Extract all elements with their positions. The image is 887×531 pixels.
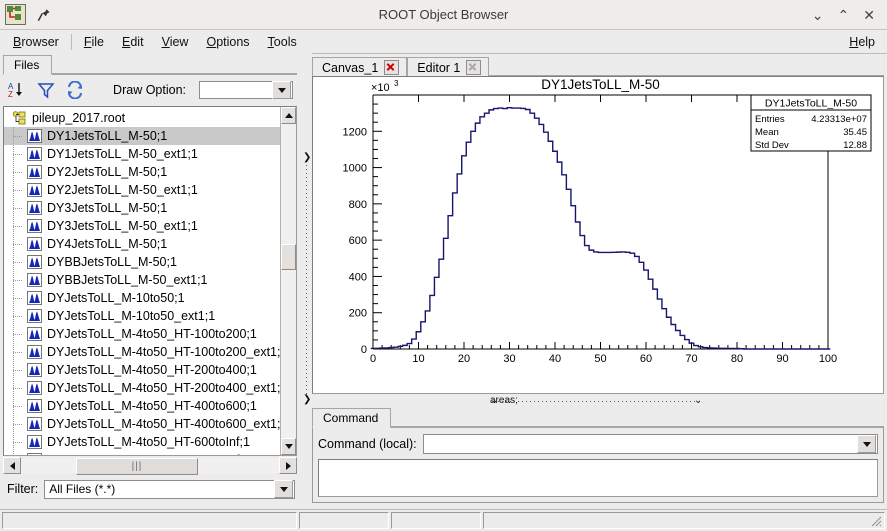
histogram-icon — [27, 345, 42, 359]
tree-connector — [10, 361, 27, 379]
tree-item[interactable]: DYJetsToLL_M-4to50_HT-600toInf;1 — [4, 433, 280, 451]
stats-row-value: 12.88 — [843, 140, 867, 151]
tree-connector — [10, 397, 27, 415]
canvas-pane: Canvas_1 Editor 1 DY1JetsToLL_M-50×10301… — [312, 53, 887, 505]
tree-item-label: DYJetsToLL_M-4to50_HT-400to600;1 — [47, 399, 257, 413]
tree-item-label: DYBBJetsToLL_M-50_ext1;1 — [47, 273, 208, 287]
draw-option-label: Draw Option: — [113, 83, 190, 97]
histogram-icon — [27, 453, 42, 455]
svg-text:Z: Z — [8, 90, 13, 99]
scroll-right-button[interactable] — [279, 457, 297, 474]
menu-divider — [71, 34, 72, 50]
x-tick-label: 0 — [370, 353, 376, 365]
tree-connector — [10, 307, 27, 325]
title-bar: ROOT Object Browser ⌄ ⌃ ✕ — [0, 0, 887, 30]
tree-item-label: DYJetsToLL_M-4to50_HT-200to400_ext1;1 — [47, 381, 280, 395]
x-tick-label: 20 — [458, 353, 470, 365]
tree-connector — [10, 325, 27, 343]
tree-item-label: DY1JetsToLL_M-50;1 — [47, 129, 167, 143]
status-cell-3 — [391, 512, 481, 529]
menu-view[interactable]: View — [153, 33, 198, 51]
hsplitter-arrow-left2[interactable]: ⌄ — [490, 396, 498, 406]
chevron-down-icon[interactable] — [272, 81, 291, 99]
vertical-splitter[interactable]: ❯ ❯ — [300, 53, 312, 505]
main-area: Files A Z — [0, 53, 887, 505]
histogram-icon — [27, 417, 42, 431]
filter-row: Filter: All Files (*.*) — [3, 474, 297, 503]
scroll-up-button[interactable] — [281, 107, 296, 124]
y-tick-label: 400 — [349, 271, 367, 283]
tree-connector — [10, 235, 27, 253]
tree-item-label: DYJetsToLL_M-4to50_HT-100to200_ext1;1 — [47, 345, 280, 359]
histogram-canvas[interactable]: DY1JetsToLL_M-50×10301020304050607080901… — [312, 76, 884, 394]
y-tick-label: 0 — [361, 344, 367, 356]
tree-item-label: DYJetsToLL_M-10to50_ext1;1 — [47, 309, 215, 323]
y-axis-exponent: ×10 — [371, 82, 390, 94]
menu-options-label: ptions — [216, 35, 249, 49]
tree-item-label: DY1JetsToLL_M-50_ext1;1 — [47, 147, 198, 161]
menu-browser-label: rowser — [21, 35, 59, 49]
tabstrip-filler — [52, 73, 297, 74]
draw-option-combo[interactable] — [199, 81, 293, 99]
stats-row-value: 4.23313e+07 — [811, 114, 867, 125]
canvas-tabstrip: Canvas_1 Editor 1 — [312, 55, 884, 76]
x-tick-label: 60 — [640, 353, 652, 365]
tab-editor-1[interactable]: Editor 1 — [407, 57, 489, 77]
menu-tools[interactable]: Tools — [259, 33, 306, 51]
root-browser-icon — [6, 5, 23, 22]
browser-toolbar: A Z — [3, 75, 297, 105]
command-tabstrip-filler — [391, 426, 884, 427]
browser-pane: Files A Z — [0, 53, 300, 505]
splitter-arrow-bottom[interactable]: ❯ — [303, 395, 311, 405]
stats-row-name: Std Dev — [755, 140, 789, 151]
filter-label: Filter: — [7, 482, 38, 496]
y-tick-label: 800 — [349, 199, 367, 211]
resize-grip-icon[interactable] — [870, 515, 882, 527]
tree-connector — [10, 379, 27, 397]
tree-item-label: DYJetsToLL_M-4to50_HT-600toInf_ext1;1 — [47, 453, 280, 455]
x-tick-label: 30 — [503, 353, 515, 365]
tree-item-label: DY2JetsToLL_M-50_ext1;1 — [47, 183, 198, 197]
scroll-left-button[interactable] — [3, 457, 21, 474]
close-icon[interactable]: ✕ — [863, 8, 875, 22]
histogram-icon — [27, 147, 42, 161]
tree-connector — [10, 271, 27, 289]
x-tick-label: 100 — [819, 353, 837, 365]
command-label: Command (local): — [318, 437, 417, 451]
menu-tools-label: ools — [274, 35, 297, 49]
tree-item[interactable]: DY2JetsToLL_M-50;1 — [4, 163, 280, 181]
tree-item[interactable]: DY1JetsToLL_M-50;1 — [4, 127, 280, 145]
chart-title: DY1JetsToLL_M-50 — [541, 77, 660, 92]
tree-item[interactable]: DYJetsToLL_M-4to50_HT-100to200;1 — [4, 325, 280, 343]
tree-item-label: DY2JetsToLL_M-50;1 — [47, 165, 167, 179]
tree-horizontal-scrollbar[interactable]: ||| — [3, 457, 297, 474]
tree-vertical-scrollbar[interactable] — [280, 107, 296, 455]
menu-file[interactable]: File — [75, 33, 113, 51]
splitter-arrow-top[interactable]: ❯ — [303, 153, 311, 163]
y-tick-label: 1200 — [343, 126, 367, 138]
file-tree-container: pileup_2017.root DY1JetsToLL_M-50;1DY1Je… — [3, 106, 297, 456]
window-title: ROOT Object Browser — [0, 7, 887, 22]
tree-connector — [10, 433, 27, 451]
horizontal-splitter[interactable]: areas; ⌄ ⌄ — [312, 394, 884, 408]
tree-connector — [10, 253, 27, 271]
tree-item[interactable]: DY3JetsToLL_M-50;1 — [4, 199, 280, 217]
files-tabstrip: Files — [3, 55, 297, 75]
tree-item[interactable]: DYJetsToLL_M-10to50_ext1;1 — [4, 307, 280, 325]
app-icon — [5, 4, 26, 25]
command-body: Command (local): — [312, 428, 884, 503]
hscroll-thumb[interactable]: ||| — [76, 458, 198, 475]
tree-item-label: DYJetsToLL_M-4to50_HT-400to600_ext1;1 — [47, 417, 280, 431]
histogram-icon — [27, 435, 42, 449]
x-tick-label: 90 — [776, 353, 788, 365]
y-tick-label: 200 — [349, 308, 367, 320]
funnel-icon[interactable] — [36, 81, 56, 99]
filter-combo[interactable]: All Files (*.*) — [44, 480, 295, 499]
close-icon[interactable] — [466, 60, 481, 75]
command-input-combo[interactable] — [423, 434, 878, 454]
sort-az-icon[interactable]: A Z — [7, 81, 27, 99]
histogram-icon — [27, 291, 42, 305]
tree-item[interactable]: DY2JetsToLL_M-50_ext1;1 — [4, 181, 280, 199]
histogram-icon — [27, 237, 42, 251]
x-tick-label: 70 — [685, 353, 697, 365]
menu-edit-label: dit — [130, 35, 143, 49]
histogram-icon — [27, 165, 42, 179]
tree-item-label: DYJetsToLL_M-4to50_HT-600toInf;1 — [47, 435, 250, 449]
hsplitter-dots — [498, 401, 698, 402]
histogram-icon — [27, 309, 42, 323]
tree-connector — [10, 163, 27, 181]
tree-connector — [10, 343, 27, 361]
window-controls: ⌄ ⌃ ✕ — [812, 8, 887, 22]
tree-item[interactable]: DY4JetsToLL_M-50;1 — [4, 235, 280, 253]
tree-item[interactable]: DYJetsToLL_M-4to50_HT-400to600_ext1;1 — [4, 415, 280, 433]
tree-connector — [10, 451, 27, 455]
menu-options[interactable]: Options — [197, 33, 258, 51]
minimize-icon[interactable]: ⌄ — [812, 8, 824, 22]
tree-item[interactable]: DYJetsToLL_M-4to50_HT-200to400_ext1;1 — [4, 379, 280, 397]
tab-files[interactable]: Files — [3, 55, 52, 75]
histogram-icon — [27, 399, 42, 413]
tree-item[interactable]: DY3JetsToLL_M-50_ext1;1 — [4, 217, 280, 235]
splitter-dots — [306, 161, 307, 397]
histogram-icon — [27, 183, 42, 197]
chevron-down-icon[interactable] — [857, 435, 876, 453]
histogram-icon — [27, 327, 42, 341]
root-file-icon — [12, 111, 29, 126]
x-tick-label: 10 — [412, 353, 424, 365]
histogram-icon — [27, 381, 42, 395]
tab-command[interactable]: Command — [312, 408, 391, 428]
maximize-icon[interactable]: ⌃ — [838, 8, 850, 22]
tab-canvas-1-label: Canvas_1 — [322, 61, 378, 75]
histogram-icon — [27, 219, 42, 233]
scroll-down-button[interactable] — [281, 438, 296, 455]
stats-row-name: Entries — [755, 114, 785, 125]
tab-editor-1-label: Editor 1 — [417, 61, 460, 75]
tree-item[interactable]: DYBBJetsToLL_M-50_ext1;1 — [4, 271, 280, 289]
tab-canvas-1[interactable]: Canvas_1 — [312, 57, 407, 77]
x-tick-label: 40 — [549, 353, 561, 365]
file-tree[interactable]: pileup_2017.root DY1JetsToLL_M-50;1DY1Je… — [4, 107, 280, 455]
stats-row-value: 35.45 — [843, 127, 867, 138]
x-tick-label: 50 — [594, 353, 606, 365]
scroll-thumb[interactable] — [281, 244, 296, 270]
command-tabstrip: Command — [312, 408, 884, 428]
tree-connector — [10, 199, 27, 217]
refresh-icon[interactable] — [65, 81, 85, 99]
y-tick-label: 1000 — [343, 163, 367, 175]
tree-item[interactable]: DYJetsToLL_M-4to50_HT-100to200_ext1;1 — [4, 343, 280, 361]
tree-item-label: DY3JetsToLL_M-50_ext1;1 — [47, 219, 198, 233]
tree-connector — [10, 181, 27, 199]
chevron-down-icon[interactable] — [274, 480, 293, 498]
y-axis-exponent-power: 3 — [394, 79, 399, 88]
menu-help[interactable]: Help — [840, 33, 887, 51]
command-row: Command (local): — [318, 434, 878, 454]
tree-item-label: DYBBJetsToLL_M-50;1 — [47, 255, 177, 269]
tree-item[interactable]: DYJetsToLL_M-4to50_HT-400to600;1 — [4, 397, 280, 415]
filter-value[interactable]: All Files (*.*) — [45, 482, 274, 496]
tree-item[interactable]: DYJetsToLL_M-4to50_HT-600toInf_ext1;1 — [4, 451, 280, 455]
histogram-icon — [27, 255, 42, 269]
tree-item-label: DY4JetsToLL_M-50;1 — [47, 237, 167, 251]
tree-item[interactable]: DYJetsToLL_M-4to50_HT-200to400;1 — [4, 361, 280, 379]
tree-connector — [10, 415, 27, 433]
tree-connector — [10, 217, 27, 235]
hscroll-track[interactable]: ||| — [21, 458, 279, 473]
tree-connector — [10, 145, 27, 163]
close-icon[interactable] — [384, 60, 399, 75]
tree-item-label: DYJetsToLL_M-4to50_HT-100to200;1 — [47, 327, 257, 341]
tree-root-item[interactable]: pileup_2017.root — [4, 109, 280, 127]
menu-bar: Browser File Edit View Options Tools Hel… — [0, 30, 887, 54]
menu-browser[interactable]: Browser — [4, 33, 68, 51]
tree-connector — [10, 127, 27, 145]
menu-view-label: iew — [170, 35, 189, 49]
status-bar — [0, 509, 887, 531]
tree-item[interactable]: DYBBJetsToLL_M-50;1 — [4, 253, 280, 271]
menu-help-label: elp — [858, 35, 875, 49]
command-output — [318, 459, 878, 497]
canvas-container: Canvas_1 Editor 1 DY1JetsToLL_M-50×10301… — [312, 55, 884, 394]
histogram-plot[interactable]: DY1JetsToLL_M-50×10301020304050607080901… — [313, 77, 876, 393]
status-cell-2 — [299, 512, 389, 529]
command-pane: Command Command (local): — [312, 408, 884, 503]
histogram-icon — [27, 363, 42, 377]
status-cell-1 — [2, 512, 297, 529]
scroll-track[interactable] — [281, 124, 296, 438]
x-tick-label: 80 — [731, 353, 743, 365]
pin-icon[interactable] — [35, 6, 53, 24]
tree-item[interactable]: DY1JetsToLL_M-50_ext1;1 — [4, 145, 280, 163]
menu-edit[interactable]: Edit — [113, 33, 153, 51]
y-tick-label: 600 — [349, 235, 367, 247]
stats-title: DY1JetsToLL_M-50 — [765, 98, 857, 110]
histogram-icon — [27, 273, 42, 287]
status-cell-4 — [483, 512, 885, 529]
stats-row-name: Mean — [755, 127, 779, 138]
tree-item-label: DY3JetsToLL_M-50;1 — [47, 201, 167, 215]
menu-file-label: ile — [92, 35, 105, 49]
tree-item-label: DYJetsToLL_M-10to50;1 — [47, 291, 185, 305]
tree-item[interactable]: DYJetsToLL_M-10to50;1 — [4, 289, 280, 307]
histogram-icon — [27, 129, 42, 143]
tree-item-label: DYJetsToLL_M-4to50_HT-200to400;1 — [47, 363, 257, 377]
hsplitter-arrow-right[interactable]: ⌄ — [694, 396, 702, 406]
root-object-browser-window: ROOT Object Browser ⌄ ⌃ ✕ Browser File E… — [0, 0, 887, 531]
histogram-icon — [27, 201, 42, 215]
tree-root-label: pileup_2017.root — [32, 111, 125, 125]
tree-connector — [10, 289, 27, 307]
stats-box[interactable]: DY1JetsToLL_M-50Entries4.23313e+07Mean35… — [751, 95, 871, 151]
